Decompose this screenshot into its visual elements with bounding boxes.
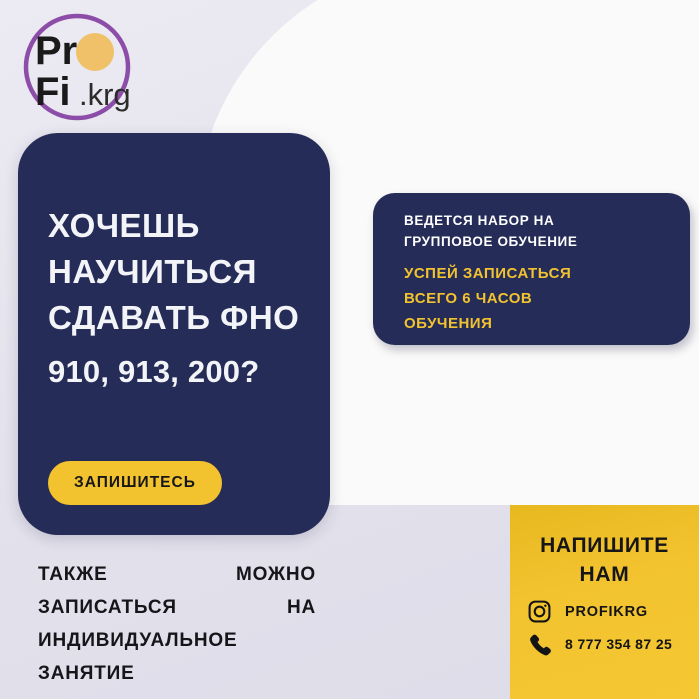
- logo-text-krg: .krg: [79, 77, 131, 112]
- phone-icon[interactable]: [527, 631, 552, 656]
- page-title: ХОЧЕШЬ НАУЧИТЬСЯ СДАВАТЬ ФНО 910, 913, 2…: [48, 203, 318, 395]
- promo-poster: Pr Fi .krg ХОЧЕШЬ НАУЧИТЬСЯ СДАВАТЬ ФНО …: [0, 0, 699, 699]
- note-word-can: МОЖНО: [236, 558, 316, 591]
- phone-row[interactable]: 8 777 354 87 25: [510, 631, 699, 656]
- note-row-1: ТАКЖЕ МОЖНО: [38, 558, 316, 591]
- note-row-4: ЗАНЯТИЕ: [38, 657, 316, 690]
- contact-panel: НАПИШИТЕ НАМ PROFIKRG 8 777 354 87 25: [510, 505, 699, 699]
- logo-text-fi: Fi: [35, 70, 71, 114]
- group-course-line-1: ВЕДЕТСЯ НАБОР НА: [404, 210, 577, 231]
- contact-title-line-1: НАПИШИТЕ: [510, 531, 699, 560]
- offer-line-1: УСПЕЙ ЗАПИСАТЬСЯ: [404, 261, 571, 286]
- group-course-card: ВЕДЕТСЯ НАБОР НА ГРУППОВОЕ ОБУЧЕНИЕ УСПЕ…: [373, 193, 690, 345]
- phone-number[interactable]: 8 777 354 87 25: [565, 636, 672, 652]
- group-course-line-2: ГРУППОВОЕ ОБУЧЕНИЕ: [404, 231, 577, 252]
- note-row-2: ЗАПИСАТЬСЯ НА: [38, 591, 316, 624]
- note-word-also: ТАКЖЕ: [38, 558, 108, 591]
- instagram-row[interactable]: PROFIKRG: [510, 599, 699, 624]
- note-row-3: ИНДИВИДУАЛЬНОЕ: [38, 624, 316, 657]
- brand-logo: Pr Fi .krg: [18, 12, 136, 122]
- signup-button[interactable]: ЗАПИШИТЕСЬ: [48, 461, 222, 505]
- offer-line-3: ОБУЧЕНИЯ: [404, 311, 571, 336]
- note-word-signup: ЗАПИСАТЬСЯ: [38, 591, 177, 624]
- logo-text-pr: Pr: [35, 29, 77, 73]
- headline-form-numbers: 910, 913, 200?: [48, 349, 318, 395]
- group-course-heading: ВЕДЕТСЯ НАБОР НА ГРУППОВОЕ ОБУЧЕНИЕ: [404, 210, 577, 252]
- group-course-offer: УСПЕЙ ЗАПИСАТЬСЯ ВСЕГО 6 ЧАСОВ ОБУЧЕНИЯ: [404, 261, 571, 336]
- headline-line-2: НАУЧИТЬСЯ: [48, 249, 318, 295]
- contact-title-line-2: НАМ: [510, 560, 699, 589]
- instagram-handle[interactable]: PROFIKRG: [565, 604, 648, 620]
- offer-line-2: ВСЕГО 6 ЧАСОВ: [404, 286, 571, 311]
- main-offer-card: ХОЧЕШЬ НАУЧИТЬСЯ СДАВАТЬ ФНО 910, 913, 2…: [18, 133, 330, 535]
- contact-title: НАПИШИТЕ НАМ: [510, 531, 699, 589]
- logo-dot-icon: [76, 33, 114, 71]
- note-word-for: НА: [287, 591, 316, 624]
- individual-lesson-note: ТАКЖЕ МОЖНО ЗАПИСАТЬСЯ НА ИНДИВИДУАЛЬНОЕ…: [38, 558, 316, 690]
- headline-line-3: СДАВАТЬ ФНО: [48, 295, 318, 341]
- headline-line-1: ХОЧЕШЬ: [48, 203, 318, 249]
- instagram-icon[interactable]: [527, 599, 552, 624]
